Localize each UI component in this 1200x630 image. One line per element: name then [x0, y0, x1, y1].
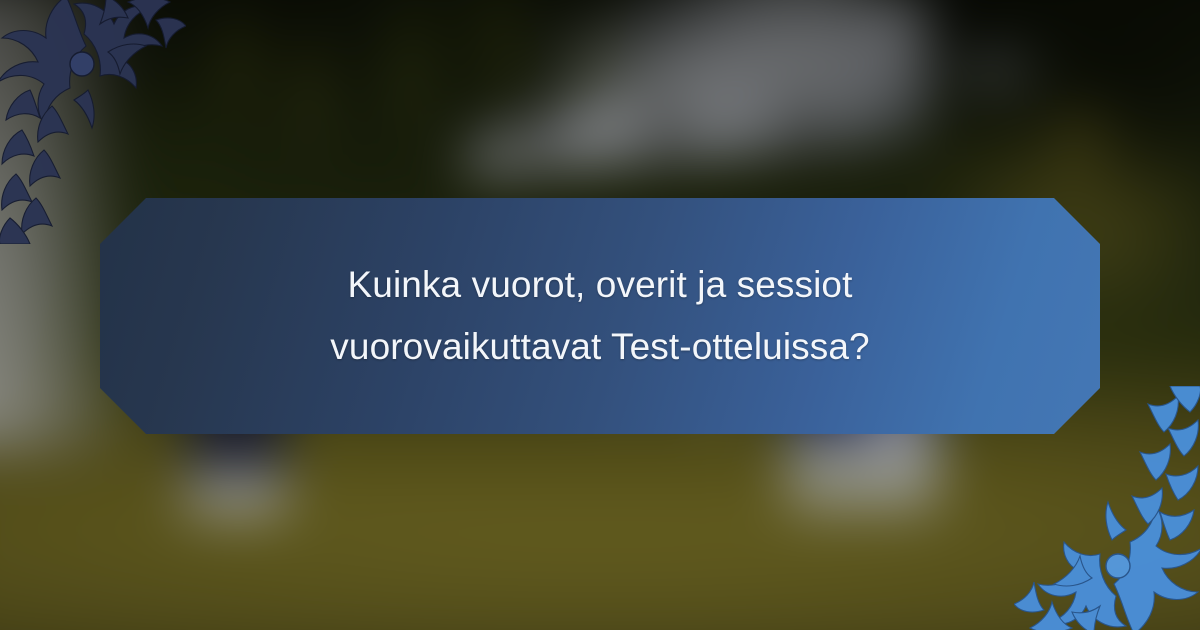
page-title: Kuinka vuorot, overit ja sessiot vuorova… [290, 254, 910, 378]
social-card-canvas: Kuinka vuorot, overit ja sessiot vuorova… [0, 0, 1200, 630]
title-banner: Kuinka vuorot, overit ja sessiot vuorova… [100, 198, 1100, 434]
